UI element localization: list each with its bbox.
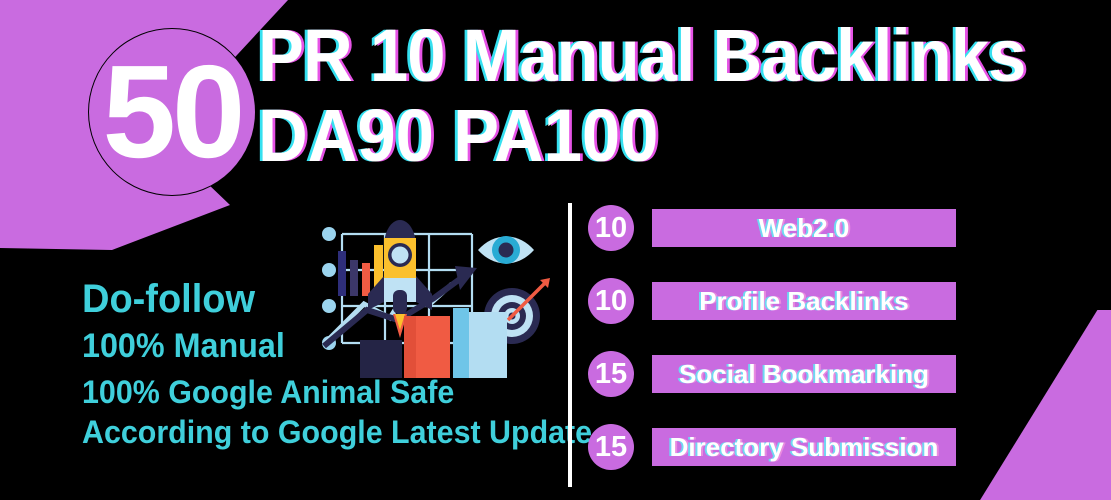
feature-item-animal-safe: 100% Google Animal Safe [82,376,592,410]
eye-icon [478,236,534,264]
headline-block: PR 10 Manual Backlinks DA90 PA100 [258,22,1083,170]
vertical-divider [568,203,572,487]
feature-item-latest-update: According to Google Latest Update [82,416,592,450]
package-label-bar: Profile Backlinks [652,282,956,320]
headline-line-1: PR 10 Manual Backlinks [258,22,1025,90]
package-count-badge: 15 [588,351,634,397]
package-count-badge: 10 [588,205,634,251]
list-item: 15 Directory Submission [588,424,956,470]
feature-list: Do-follow 100% Manual 100% Google Animal… [82,278,619,450]
package-count-badge: 10 [588,278,634,324]
list-item: 10 Profile Backlinks [588,278,956,324]
package-list: 10 Web2.0 10 Profile Backlinks 15 Social… [588,205,956,470]
feature-item-do-follow: Do-follow [82,278,592,320]
headline-line-2: DA90 PA100 [258,102,1025,170]
package-label-bar: Social Bookmarking [652,355,956,393]
package-label-bar: Web2.0 [652,209,956,247]
list-item: 15 Social Bookmarking [588,351,956,397]
purple-bottom-right-shape [941,310,1111,500]
list-item: 10 Web2.0 [588,205,956,251]
feature-item-manual: 100% Manual [82,329,592,365]
backlinks-service-banner: 50 PR 10 Manual Backlinks DA90 PA100 Do-… [0,0,1111,500]
package-label-bar: Directory Submission [652,428,956,466]
package-count-badge: 15 [588,424,634,470]
quantity-badge-label: 50 [88,28,256,196]
